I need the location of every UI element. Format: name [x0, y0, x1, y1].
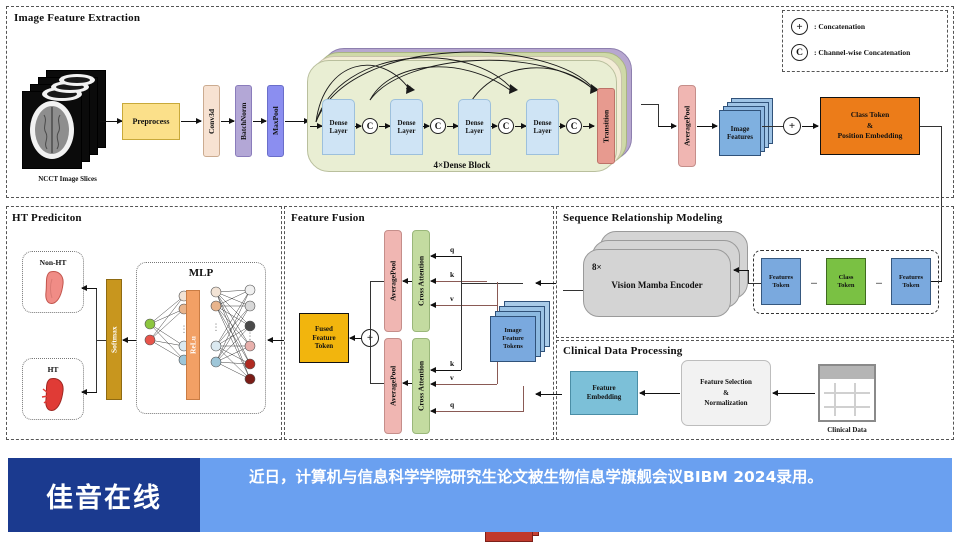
arrow-fusion-to-mlp [268, 340, 284, 341]
features-token-label: Features Token [899, 274, 923, 290]
fusion-merge-top [370, 281, 384, 282]
cross-attention-top-block: Cross Attention [412, 230, 430, 332]
relu-block: ReLu [186, 290, 200, 400]
arrow-crossattn-bottom-to-avgpool [403, 383, 412, 384]
class-token-position-embedding-block: Class Token & Position Embedding [820, 97, 920, 155]
section-title-sequence-modeling: Sequence Relationship Modeling [563, 212, 722, 224]
arrow-c4-to-transition [583, 126, 594, 127]
section-title-ht-prediction: HT Prediciton [12, 212, 82, 224]
dense-layer-label: Dense Layer [466, 119, 484, 135]
banner-brand: 佳音在线 [8, 458, 200, 532]
arrow-softmax-to-nonht [82, 288, 97, 289]
batchnorm-block: BatchNorm [235, 85, 252, 157]
token-dots-right: ... [868, 277, 890, 286]
legend-plus-label: : Concatenation [814, 22, 865, 31]
dense-layer-label: Dense Layer [534, 119, 552, 135]
avgpool-extraction-block: AveragePool [678, 85, 696, 167]
preprocess-block: Preprocess [122, 103, 180, 140]
arrow-conv3d-to-batchnorm [221, 121, 234, 122]
non-ht-label: Non-HT [22, 258, 84, 267]
softmax-block: Softmax [106, 279, 122, 400]
dense-layer-3: Dense Layer [458, 99, 491, 155]
line-softmax-out [96, 340, 106, 341]
wire-imgtok-out [461, 283, 523, 284]
dense-layer-label: Dense Layer [398, 119, 416, 135]
arrow-embedding-to-clintokens [536, 394, 562, 395]
label-v-top: v [450, 294, 454, 303]
arrow-batchnorm-to-maxpool [253, 121, 266, 122]
arrow-v-bottom [431, 384, 497, 385]
label-q-top: q [450, 245, 454, 254]
ht-brain-icon [40, 377, 68, 413]
fused-token-label: Fused Feature Token [312, 325, 335, 351]
label-k-top: k [450, 270, 454, 279]
arrow-slices-to-preprocess [100, 121, 122, 122]
arrow-maxpool-to-denseblock [285, 121, 309, 122]
class-token-line2: & [867, 121, 873, 132]
class-token-line3: Position Embedding [838, 131, 903, 142]
feature-embedding-label: Feature Embedding [587, 384, 622, 402]
clinical-data-table-icon [818, 364, 876, 422]
avgpool-bottom-block: AveragePool [384, 338, 402, 434]
non-ht-brain-icon [40, 270, 68, 306]
wire-clintok-out [487, 411, 523, 412]
arrow-dl3-to-c3 [491, 126, 497, 127]
arrow-c3-to-dl4 [515, 126, 526, 127]
line-mamba-out-left [563, 290, 583, 291]
section-title-feature-fusion: Feature Fusion [291, 212, 365, 224]
ncct-caption: NCCT Image Slices [20, 175, 115, 183]
fused-feature-token-block: Fused Feature Token [299, 313, 349, 363]
image-feature-tokens-stack: Image Feature Tokens [490, 301, 552, 363]
arrow-avgpool-to-imagefeatures [697, 126, 717, 127]
image-features-stack: Image Features [719, 98, 774, 156]
svg-text:⋮: ⋮ [212, 323, 221, 333]
ncct-image-slices [18, 70, 113, 170]
arrow-preprocess-to-conv3d [181, 121, 201, 122]
maxpool-block: MaxPool [267, 85, 284, 157]
line-imgfeat-to-plus [762, 126, 783, 127]
section-title-image-feature-extraction: Image Feature Extraction [14, 12, 140, 24]
mlp-title: MLP [136, 267, 266, 279]
arrow-q-bottom [431, 411, 487, 412]
legend-box [782, 10, 948, 72]
class-token-line1: Class Token [851, 110, 890, 121]
dense-layer-2: Dense Layer [390, 99, 423, 155]
features-token-right: Features Token [891, 258, 931, 305]
banner-message: 近日，计算机与信息科学学院研究生论文被生物信息学旗舰会议BIBM 2024录用。 [200, 458, 952, 532]
svg-text:⋮: ⋮ [246, 332, 255, 342]
feature-selection-normalization-block: Feature Selection & Normalization [681, 360, 771, 426]
arrow-selection-to-embedding [640, 393, 680, 394]
wire-q-top-up [461, 256, 462, 283]
line-tokens-to-mamba-v [748, 270, 749, 284]
banner-message-text: 近日，计算机与信息科学学院研究生论文被生物信息学旗舰会议BIBM 2024录用。 [218, 468, 823, 486]
fusion-merge-vertical [370, 281, 371, 338]
banner-brand-text: 佳音在线 [46, 476, 162, 515]
legend-c-label: : Channel-wise Concatenation [814, 48, 910, 57]
features-token-label: Features Token [769, 274, 793, 290]
image-feature-tokens-label: Image Feature Tokens [502, 327, 524, 350]
image-feature-tokens-sheet: Image Feature Tokens [490, 316, 536, 362]
feature-selection-line1: Feature Selection [700, 377, 752, 388]
line-transition-out [641, 104, 659, 105]
line-transition-drop [658, 104, 659, 126]
feature-selection-line2: & [723, 388, 729, 399]
class-token-label: Class Token [837, 274, 854, 290]
fusion-merge-bottom [370, 383, 384, 384]
arrow-dl2-to-c2 [423, 126, 429, 127]
avgpool-top-block: AveragePool [384, 230, 402, 332]
arrow-v-top [431, 305, 497, 306]
plus-icon: + [791, 18, 808, 35]
arrow-c2-to-dl3 [447, 126, 458, 127]
arrow-k-bottom [431, 370, 461, 371]
label-k-bottom: k [450, 359, 454, 368]
fusion-merge-vertical-2 [370, 338, 371, 383]
wire-clintok-up [523, 386, 524, 412]
dense-layer-label: Dense Layer [330, 119, 348, 135]
arrow-crossattn-top-to-avgpool [403, 281, 412, 282]
token-dots-left: ... [803, 277, 825, 286]
transition-block: Transition [597, 88, 615, 164]
arrow-data-to-selection [773, 393, 815, 394]
mamba-encoder-label: Vision Mamba Encoder [583, 280, 731, 290]
image-features-label-sheet: Image Features [719, 110, 761, 156]
arrow-softmax-to-ht [82, 392, 97, 393]
concat-icon-1: C [362, 118, 378, 134]
arrow-mlp-to-softmax [123, 340, 137, 341]
section-title-clinical-processing: Clinical Data Processing [563, 345, 682, 357]
channel-concat-icon: C [791, 44, 808, 61]
mamba-repeat-label: 8× [592, 262, 602, 272]
dense-layer-4: Dense Layer [526, 99, 559, 155]
ht-label: HT [22, 365, 84, 374]
route-classtoken-right [920, 126, 942, 127]
arrow-q-top [431, 256, 461, 257]
label-v-bottom: v [450, 373, 454, 382]
arrow-plus-to-classtoken [802, 126, 818, 127]
arrow-dl1-to-c1 [355, 126, 361, 127]
features-token-left: Features Token [761, 258, 801, 305]
class-token-block: Class Token [826, 258, 866, 305]
arrow-dl4-to-c4 [559, 126, 565, 127]
feature-embedding-block: Feature Embedding [570, 371, 638, 415]
cross-attention-bottom-block: Cross Attention [412, 338, 430, 434]
concat-icon-3: C [498, 118, 514, 134]
arrow-into-dense-layer-1 [310, 126, 322, 127]
concat-plus-icon: + [783, 117, 801, 135]
arrow-mamba-to-imgtokens [536, 283, 556, 284]
image-features-label: Image Features [727, 125, 753, 142]
dense-layer-1: Dense Layer [322, 99, 355, 155]
arrow-c1-to-dl2 [379, 126, 390, 127]
concat-icon-4: C [566, 118, 582, 134]
conv3d-block: Conv3d [203, 85, 220, 157]
clinical-data-caption: Clinical Data [810, 426, 884, 434]
arrow-k-top [431, 281, 487, 282]
wire-to-bottom-k [461, 283, 462, 370]
mlp-network-diagram: ⋮ ⋮ ⋮ [138, 284, 264, 404]
slide-root: Image Feature Extraction + : Concatenati… [0, 0, 960, 540]
arrow-to-avgpool [658, 126, 676, 127]
arrow-tokens-into-mamba [734, 270, 749, 271]
dense-block-caption: 4×Dense Block [307, 160, 617, 170]
concat-icon-2: C [430, 118, 446, 134]
label-q-bottom: q [450, 400, 454, 409]
feature-selection-line3: Normalization [704, 398, 747, 409]
